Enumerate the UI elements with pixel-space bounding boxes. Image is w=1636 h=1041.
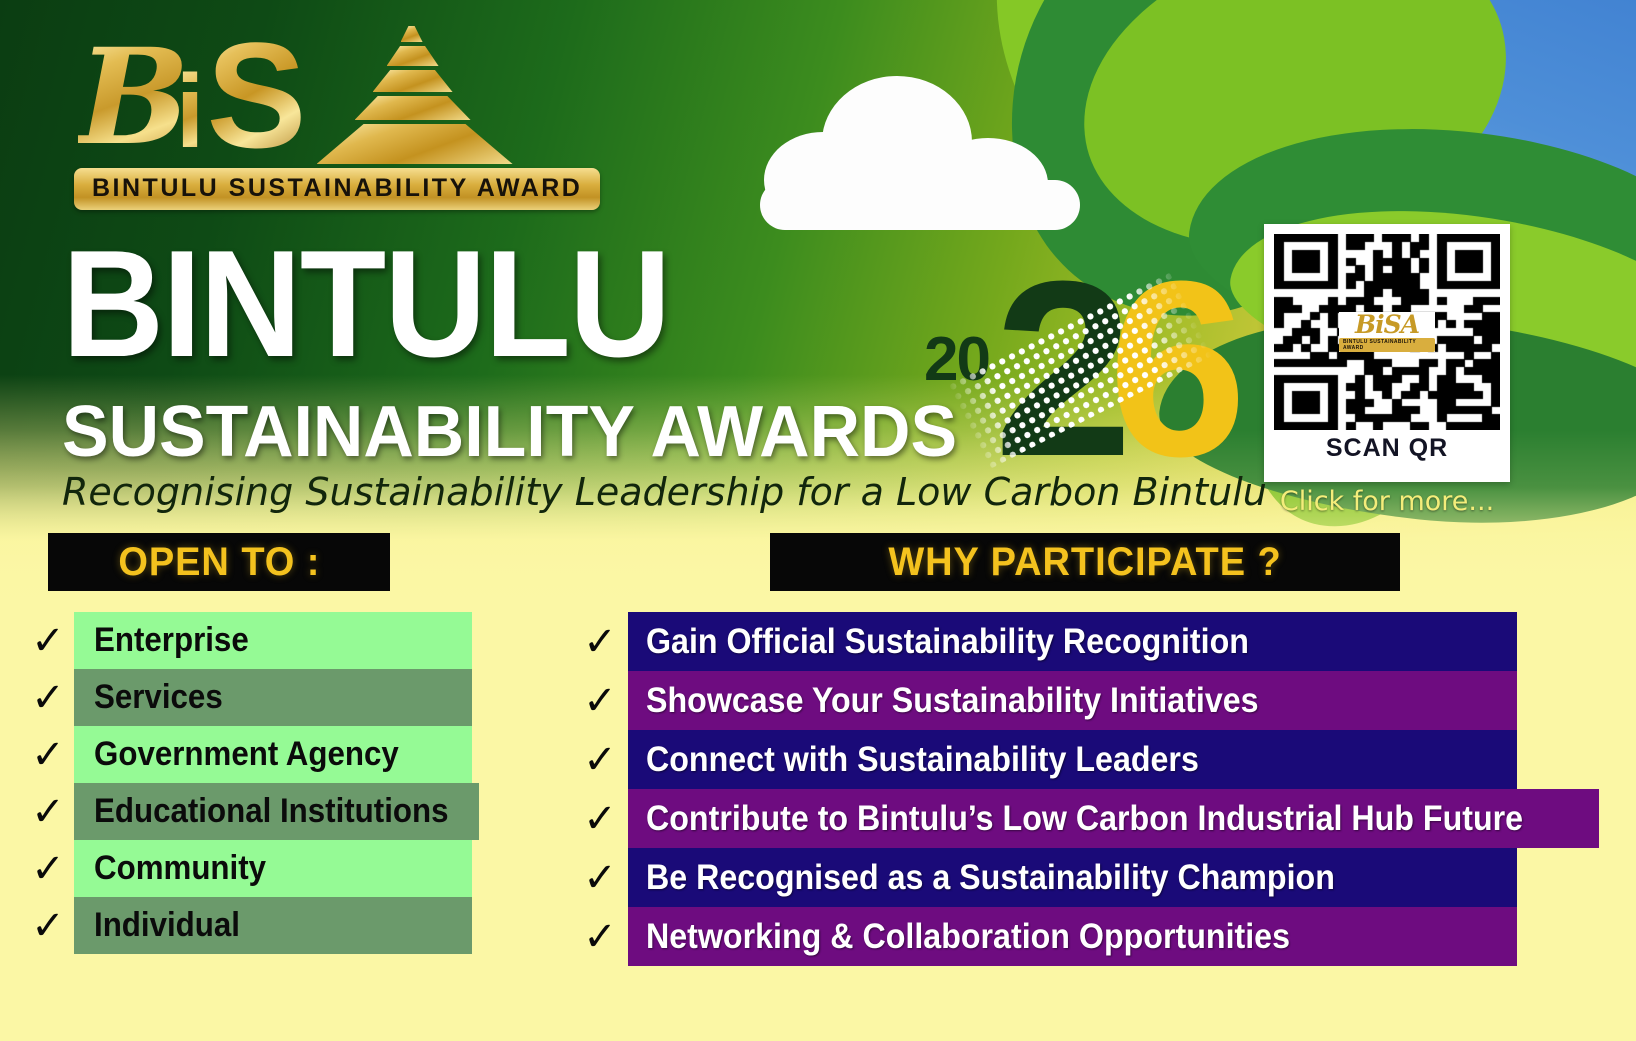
click-for-more-link[interactable]: Click for more... <box>1264 486 1510 517</box>
list-item-bar: Showcase Your Sustainability Initiatives <box>628 671 1517 730</box>
qr-logo-mark: BiSA <box>1355 312 1419 337</box>
list-item-label: Community <box>94 849 266 888</box>
list-item-bar: Community <box>74 840 472 897</box>
list-item: ✓Showcase Your Sustainability Initiative… <box>572 671 1517 730</box>
list-item: ✓Be Recognised as a Sustainability Champ… <box>572 848 1517 907</box>
check-icon: ✓ <box>572 848 628 907</box>
list-item-bar: Be Recognised as a Sustainability Champi… <box>628 848 1517 907</box>
year-2026-graphic: 2 6 20 <box>912 236 1212 506</box>
logo-ribbon-text: BINTULU SUSTAINABILITY AWARD <box>92 174 582 202</box>
year-digit-6: 6 <box>1108 244 1247 494</box>
why-participate-header: WHY PARTICIPATE ? <box>770 533 1400 591</box>
check-icon: ✓ <box>22 612 74 669</box>
list-item-label: Showcase Your Sustainability Initiatives <box>646 681 1259 721</box>
cloud-icon <box>760 76 1080 226</box>
list-item-bar: Educational Institutions <box>74 783 479 840</box>
check-icon: ✓ <box>572 612 628 671</box>
list-item-bar: Contribute to Bintulu’s Low Carbon Indus… <box>628 789 1599 848</box>
list-item-label: Services <box>94 678 223 717</box>
list-item: ✓Connect with Sustainability Leaders <box>572 730 1517 789</box>
year-prefix-20: 20 <box>924 324 989 395</box>
list-item-label: Government Agency <box>94 735 399 774</box>
list-item: ✓Gain Official Sustainability Recognitio… <box>572 612 1517 671</box>
logo-letter-b: B <box>78 32 190 164</box>
list-item-bar: Connect with Sustainability Leaders <box>628 730 1517 789</box>
list-item: ✓Community <box>22 840 472 897</box>
check-icon: ✓ <box>22 669 74 726</box>
why-participate-header-label: WHY PARTICIPATE ? <box>888 540 1281 585</box>
tower-icon <box>313 24 513 164</box>
page-subtitle: SUSTAINABILITY AWARDS <box>62 396 957 468</box>
poster-root: B i S BINTULU SUSTAINABILITY AWARD BINTU… <box>0 0 1636 1041</box>
check-icon: ✓ <box>22 726 74 783</box>
open-to-list: ✓Enterprise✓Services✓Government Agency✓E… <box>22 612 472 954</box>
qr-code-image[interactable]: BiSA BINTULU SUSTAINABILITY AWARD <box>1274 234 1500 430</box>
qr-logo-ribbon: BINTULU SUSTAINABILITY AWARD <box>1339 338 1435 352</box>
list-item: ✓Networking & Collaboration Opportunitie… <box>572 907 1517 966</box>
list-item: ✓Individual <box>22 897 472 954</box>
list-item-bar: Individual <box>74 897 472 954</box>
list-item: ✓Educational Institutions <box>22 783 472 840</box>
check-icon: ✓ <box>22 897 74 954</box>
list-item-label: Contribute to Bintulu’s Low Carbon Indus… <box>646 799 1523 839</box>
list-item-label: Gain Official Sustainability Recognition <box>646 622 1249 662</box>
list-item: ✓Government Agency <box>22 726 472 783</box>
logo-letter-s: S <box>206 26 306 164</box>
check-icon: ✓ <box>572 907 628 966</box>
check-icon: ✓ <box>22 840 74 897</box>
list-item-bar: Enterprise <box>74 612 472 669</box>
list-item-label: Enterprise <box>94 621 249 660</box>
check-icon: ✓ <box>572 730 628 789</box>
logo-letter-i: i <box>176 60 205 164</box>
list-item-bar: Gain Official Sustainability Recognition <box>628 612 1517 671</box>
qr-caption: SCAN QR <box>1274 434 1500 463</box>
list-item: ✓Services <box>22 669 472 726</box>
check-icon: ✓ <box>572 671 628 730</box>
check-icon: ✓ <box>22 783 74 840</box>
list-item-label: Individual <box>94 906 240 945</box>
list-item-bar: Networking & Collaboration Opportunities <box>628 907 1517 966</box>
list-item: ✓Enterprise <box>22 612 472 669</box>
check-icon: ✓ <box>572 789 628 848</box>
bisa-logo-mark: B i S <box>74 24 674 164</box>
list-item-label: Educational Institutions <box>94 792 449 831</box>
qr-embedded-logo: BiSA BINTULU SUSTAINABILITY AWARD <box>1339 312 1435 352</box>
list-item-label: Networking & Collaboration Opportunities <box>646 917 1290 957</box>
open-to-header-label: OPEN TO : <box>118 540 320 585</box>
list-item-bar: Government Agency <box>74 726 472 783</box>
list-item-label: Be Recognised as a Sustainability Champi… <box>646 858 1335 898</box>
qr-code-card[interactable]: BiSA BINTULU SUSTAINABILITY AWARD SCAN Q… <box>1264 224 1510 482</box>
open-to-header: OPEN TO : <box>48 533 390 591</box>
why-participate-list: ✓Gain Official Sustainability Recognitio… <box>572 612 1517 966</box>
list-item-bar: Services <box>74 669 472 726</box>
list-item: ✓Contribute to Bintulu’s Low Carbon Indu… <box>572 789 1517 848</box>
list-item-label: Connect with Sustainability Leaders <box>646 740 1199 780</box>
bisa-logo: B i S BINTULU SUSTAINABILITY AWARD <box>74 24 674 214</box>
page-title: BINTULU <box>62 228 669 380</box>
